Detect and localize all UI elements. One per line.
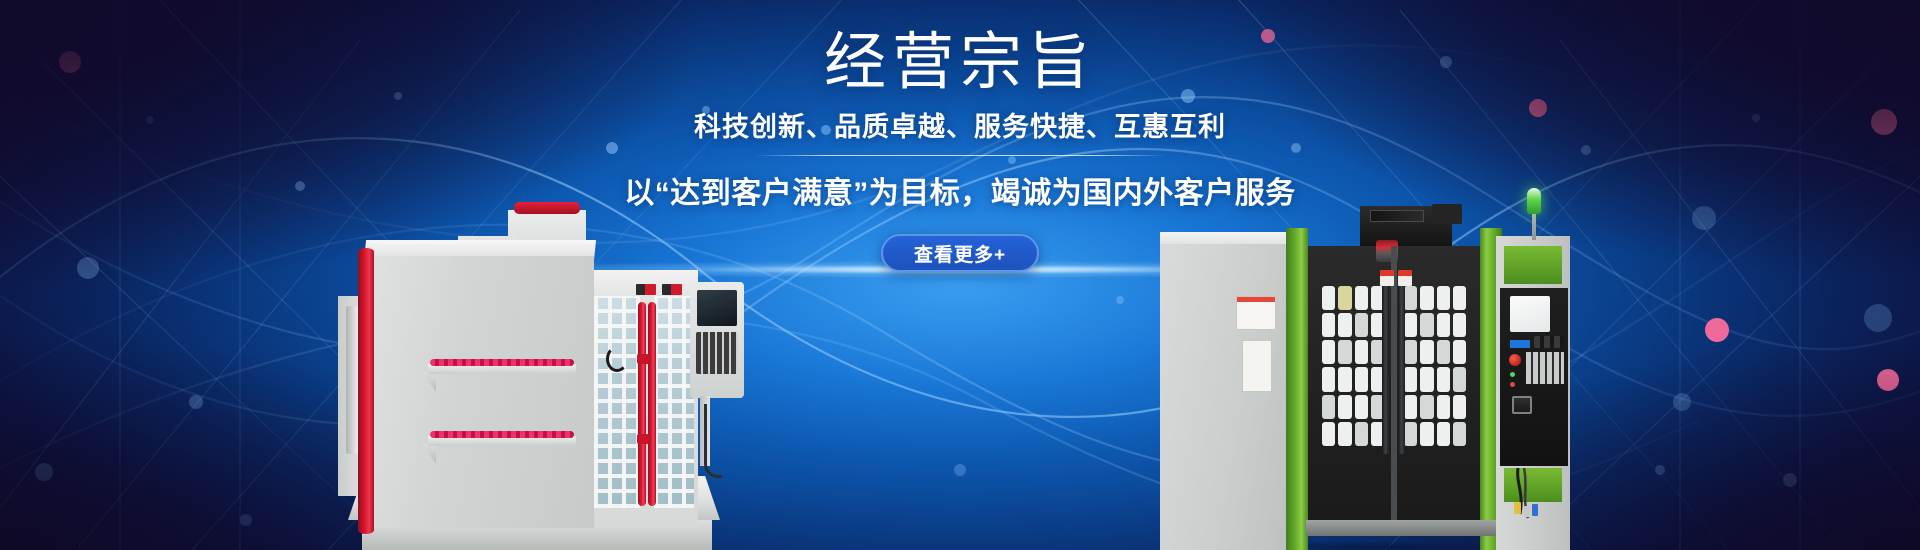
banner-divider: [754, 155, 1166, 156]
promo-banner: 经营宗旨 科技创新、品质卓越、服务快捷、互惠互利 以“达到客户满意”为目标，竭诚…: [0, 0, 1920, 550]
banner-tagline: 以“达到客户满意”为目标，竭诚为国内外客户服务: [624, 168, 1296, 212]
banner-text-block: 经营宗旨 科技创新、品质卓越、服务快捷、互惠互利 以“达到客户满意”为目标，竭诚…: [0, 0, 1920, 550]
banner-title: 经营宗旨: [824, 26, 1096, 99]
banner-subtitle: 科技创新、品质卓越、服务快捷、互惠互利: [694, 105, 1226, 144]
view-more-button[interactable]: 查看更多+: [881, 234, 1039, 272]
